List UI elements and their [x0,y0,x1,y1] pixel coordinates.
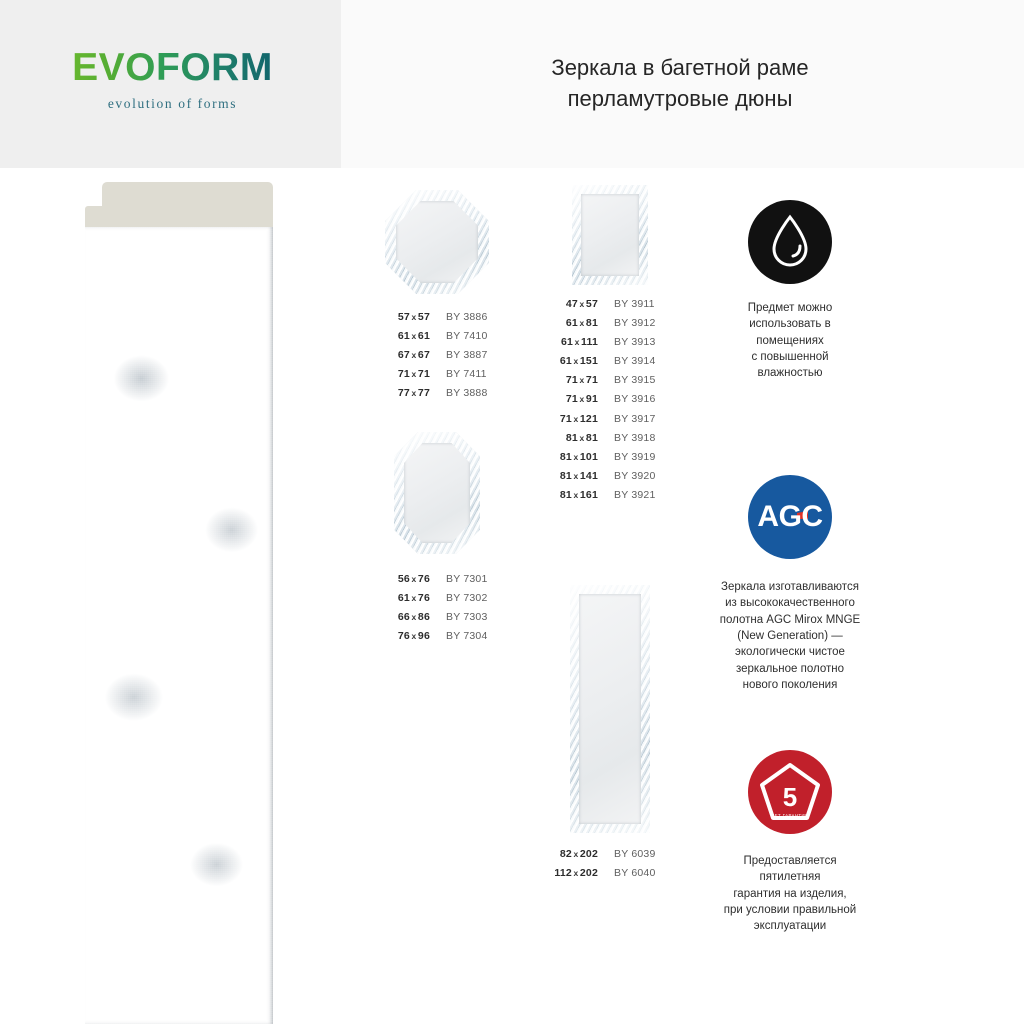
size-width: 77 [398,387,410,399]
catalog-page: EVOFORM evolution of forms Зеркала в баг… [0,0,1024,1024]
logo-tagline: evolution of forms [60,96,285,112]
agc-logo-icon: AGC [748,475,832,559]
size-width: 112 [554,867,572,879]
product-column-rectangle: 47x57BY 391161x81BY 391261x111BY 391361x… [540,185,680,509]
size-row[interactable]: 77x77BY 3888 [372,388,502,399]
text-line: нового поколения [685,677,895,693]
article-code: BY 3918 [614,433,656,444]
size-row[interactable]: 57x57BY 3886 [372,312,502,323]
size-width: 61 [398,592,410,604]
mirror-glass [581,194,639,276]
moulding-grain-overlay [85,227,273,1024]
article-code: BY 3911 [614,299,655,310]
size-separator: x [410,369,418,379]
size-height: 96 [418,630,430,642]
article-code: BY 7303 [446,612,488,623]
size-dimensions: 81x81 [540,433,598,444]
page-title-line-2: перламутровые дюны [420,83,940,114]
mirror-preview-octagon[interactable] [372,190,502,294]
size-separator: x [578,375,586,385]
rectangle-frame [572,185,648,285]
size-separator: x [578,394,586,404]
size-separator: x [578,433,586,443]
size-separator: x [410,631,418,641]
article-code: BY 6040 [614,868,656,879]
size-separator: x [410,350,418,360]
size-width: 61 [560,355,572,367]
size-list-rectangle: 47x57BY 391161x81BY 391261x111BY 391361x… [540,299,680,500]
badge-agc-text: Зеркала изготавливаютсяиз высококачестве… [685,579,895,693]
moulding-texture [85,227,273,1024]
size-height: 202 [580,848,598,860]
product-column-octagon-tall: 56x76BY 730161x76BY 730266x86BY 730376x9… [372,432,502,650]
size-width: 81 [560,451,572,463]
size-separator: x [572,452,580,462]
article-code: BY 3888 [446,388,488,399]
size-row[interactable]: 71x71BY 3915 [540,375,680,386]
size-height: 57 [586,298,598,310]
size-dimensions: 61x81 [540,318,598,329]
size-height: 202 [580,867,598,879]
text-line: использовать в [685,316,895,332]
article-code: BY 6039 [614,849,656,860]
size-height: 141 [580,470,598,482]
badge-moisture: Предмет можноиспользовать впомещенияхс п… [685,200,895,382]
page-title-line-1: Зеркала в багетной раме [420,52,940,83]
size-dimensions: 67x67 [372,350,430,361]
size-height: 161 [580,489,598,501]
text-line: с повышенной [685,349,895,365]
size-height: 57 [418,311,430,323]
text-line: (New Generation) — [685,628,895,644]
size-width: 57 [398,311,410,323]
size-separator: x [410,388,418,398]
size-width: 61 [398,330,410,342]
size-dimensions: 61x111 [540,337,598,348]
size-width: 66 [398,611,410,623]
size-height: 111 [581,336,598,348]
size-dimensions: 71x71 [540,375,598,386]
size-dimensions: 81x101 [540,452,598,463]
text-line: гарантия на изделия, [685,886,895,902]
size-row[interactable]: 61x151BY 3914 [540,356,680,367]
size-width: 71 [398,368,410,380]
octagon-tall-frame [394,432,480,554]
size-width: 56 [398,573,410,585]
size-row[interactable]: 82x202BY 6039 [540,849,680,860]
size-height: 81 [586,432,598,444]
size-width: 61 [566,317,578,329]
size-width: 81 [560,470,572,482]
badge-moisture-text: Предмет можноиспользовать впомещенияхс п… [685,300,895,382]
text-line: влажностью [685,365,895,381]
size-separator: x [410,312,418,322]
size-height: 61 [418,330,430,342]
article-code: BY 3887 [446,350,488,361]
size-dimensions: 61x151 [540,356,598,367]
size-dimensions: 47x57 [540,299,598,310]
size-height: 91 [586,393,598,405]
size-height: 71 [418,368,430,380]
agc-logo-text: AGC [748,500,832,534]
size-row[interactable]: 61x76BY 7302 [372,593,502,604]
size-row[interactable]: 71x71BY 7411 [372,369,502,380]
size-dimensions: 71x71 [372,369,430,380]
page-title: Зеркала в багетной раме перламутровые дю… [420,52,940,114]
size-row[interactable]: 67x67BY 3887 [372,350,502,361]
size-width: 67 [398,349,410,361]
text-line: при условии правильной [685,902,895,918]
mirror-preview-rectangle[interactable] [540,185,680,285]
size-row[interactable]: 56x76BY 7301 [372,574,502,585]
moulding-top-edge-lower [85,206,273,228]
size-width: 81 [560,489,572,501]
size-height: 101 [580,451,598,463]
badge-warranty: 5 ЛЕТ ГАРАНТИИ Предоставляетсяпятилетняя… [685,750,895,935]
article-code: BY 7410 [446,331,488,342]
size-width: 82 [560,848,572,860]
text-line: полотна AGC Mirox MNGE [685,612,895,628]
size-height: 121 [580,413,598,425]
text-line: Предоставляется [685,853,895,869]
text-line: Предмет можно [685,300,895,316]
text-line: Зеркала изготавливаются [685,579,895,595]
size-row[interactable]: 71x91BY 3916 [540,394,680,405]
size-dimensions: 77x77 [372,388,430,399]
size-row[interactable]: 76x96BY 7304 [372,631,502,642]
size-row[interactable]: 61x61BY 7410 [372,331,502,342]
size-list-octagon-tall: 56x76BY 730161x76BY 730266x86BY 730376x9… [372,574,502,642]
size-height: 76 [418,573,430,585]
size-width: 81 [566,432,578,444]
size-height: 81 [586,317,598,329]
size-dimensions: 81x161 [540,490,598,501]
size-height: 67 [418,349,430,361]
size-dimensions: 61x76 [372,593,430,604]
text-line: помещениях [685,333,895,349]
article-code: BY 3920 [614,471,656,482]
size-dimensions: 61x61 [372,331,430,342]
size-row[interactable]: 81x101BY 3919 [540,452,680,463]
size-dimensions: 82x202 [540,849,598,860]
size-dimensions: 76x96 [372,631,430,642]
size-width: 76 [398,630,410,642]
size-row[interactable]: 81x161BY 3921 [540,490,680,501]
page-header: EVOFORM evolution of forms Зеркала в баг… [0,0,1024,168]
size-separator: x [410,331,418,341]
badge-warranty-text: Предоставляетсяпятилетняягарантия на изд… [685,853,895,935]
size-separator: x [572,356,580,366]
size-row[interactable]: 61x111BY 3913 [540,337,680,348]
size-separator: x [410,574,418,584]
size-dimensions: 71x121 [540,414,598,425]
logo-wordmark: EVOFORM [60,48,285,87]
water-drop-icon [748,200,832,284]
size-separator: x [573,337,581,347]
mirror-preview-octagon-tall[interactable] [372,432,502,554]
product-column-rectangle-tall: 82x202BY 6039112x202BY 6040 [540,585,680,887]
text-line: зеркальное полотно [685,661,895,677]
size-dimensions: 57x57 [372,312,430,323]
size-height: 77 [418,387,430,399]
text-line: эксплуатации [685,918,895,934]
size-list-octagon: 57x57BY 388661x61BY 741067x67BY 388771x7… [372,312,502,399]
size-separator: x [572,490,580,500]
mirror-glass [404,443,470,543]
article-code: BY 3917 [614,414,656,425]
size-width: 71 [560,413,572,425]
article-code: BY 3912 [614,318,656,329]
size-height: 71 [586,374,598,386]
size-separator: x [572,471,580,481]
size-separator: x [578,318,586,328]
size-height: 86 [418,611,430,623]
text-line: из высококачественного [685,595,895,611]
rectangle-tall-frame [570,585,650,833]
warranty-5-years-icon: 5 ЛЕТ ГАРАНТИИ [748,750,832,834]
size-separator: x [578,299,586,309]
mirror-glass [579,594,641,824]
size-row[interactable]: 81x81BY 3918 [540,433,680,444]
size-width: 47 [566,298,578,310]
size-separator: x [410,593,418,603]
brand-logo[interactable]: EVOFORM evolution of forms [60,48,285,112]
size-row[interactable]: 47x57BY 3911 [540,299,680,310]
size-dimensions: 66x86 [372,612,430,623]
size-height: 76 [418,592,430,604]
article-code: BY 7304 [446,631,488,642]
warranty-number: 5 [748,784,832,810]
size-row[interactable]: 61x81BY 3912 [540,318,680,329]
article-code: BY 3919 [614,452,656,463]
text-line: экологически чистое [685,644,895,660]
article-code: BY 7302 [446,593,488,604]
size-separator: x [572,849,580,859]
article-code: BY 3913 [614,337,656,348]
moulding-sample [85,182,273,1024]
size-width: 61 [561,336,573,348]
text-line: пятилетняя [685,869,895,885]
badge-agc: AGC Зеркала изготавливаютсяиз высококаче… [685,475,895,693]
article-code: BY 3921 [614,490,656,501]
article-code: BY 3914 [614,356,656,367]
octagon-frame [385,190,489,294]
size-separator: x [572,868,580,878]
warranty-sublabel: ЛЕТ ГАРАНТИИ [748,813,832,818]
size-dimensions: 56x76 [372,574,430,585]
size-dimensions: 81x141 [540,471,598,482]
size-dimensions: 112x202 [540,868,598,879]
size-row[interactable]: 71x121BY 3917 [540,414,680,425]
article-code: BY 3886 [446,312,488,323]
size-separator: x [410,612,418,622]
size-separator: x [572,414,580,424]
product-column-octagon: 57x57BY 388661x61BY 741067x67BY 388771x7… [372,190,502,407]
article-code: BY 3915 [614,375,656,386]
size-dimensions: 71x91 [540,394,598,405]
size-width: 71 [566,393,578,405]
article-code: BY 7301 [446,574,488,585]
size-height: 151 [580,355,598,367]
size-list-rectangle-tall: 82x202BY 6039112x202BY 6040 [540,849,680,879]
size-row[interactable]: 66x86BY 7303 [372,612,502,623]
size-row[interactable]: 112x202BY 6040 [540,868,680,879]
article-code: BY 3916 [614,394,656,405]
size-row[interactable]: 81x141BY 3920 [540,471,680,482]
article-code: BY 7411 [446,369,487,380]
mirror-preview-rectangle-tall[interactable] [540,585,680,833]
size-width: 71 [566,374,578,386]
